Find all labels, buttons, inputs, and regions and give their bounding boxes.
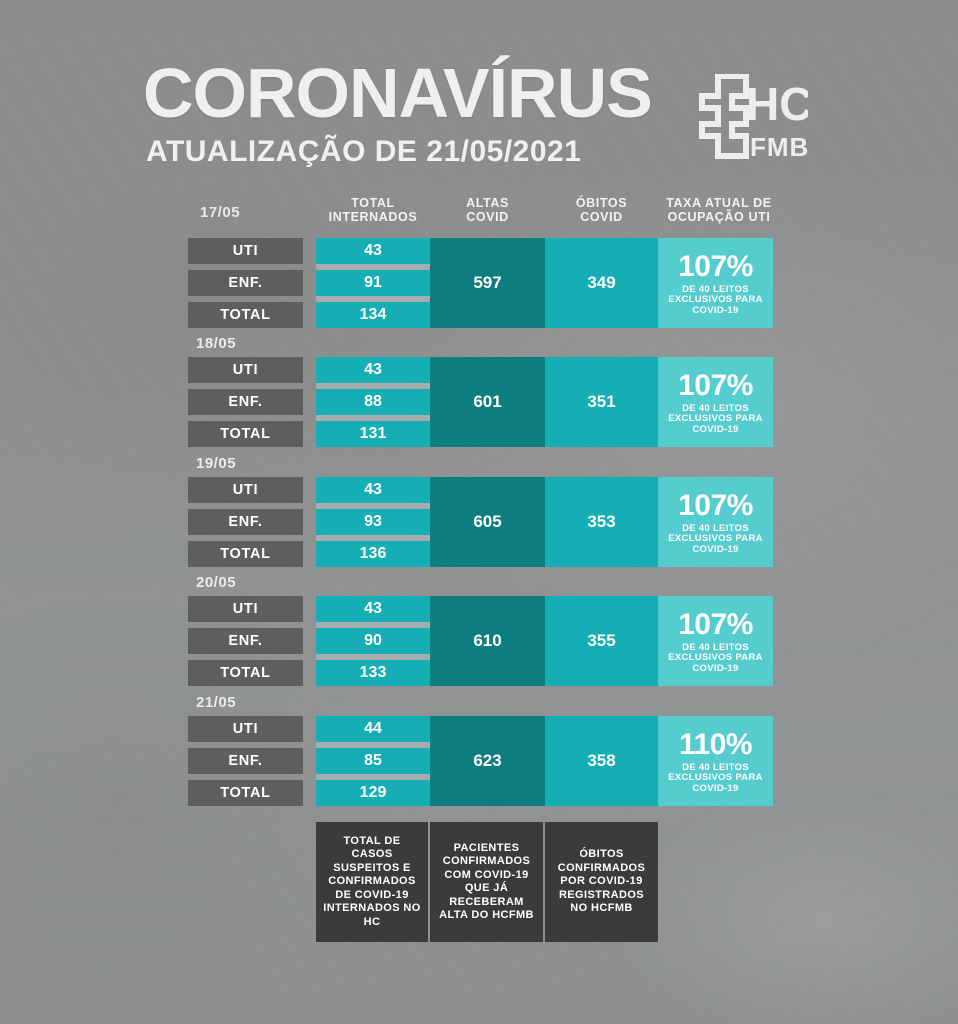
column-header-obitos-line1: ÓBITOS xyxy=(545,196,658,210)
cell-altas: 610 xyxy=(430,596,545,686)
row-label-total: TOTAL xyxy=(188,302,303,328)
taxa-percent: 110% xyxy=(679,730,752,760)
cell-internados-uti: 44 xyxy=(316,716,430,742)
column-header-altas: ALTAS COVID xyxy=(430,196,545,224)
column-header-internados-line1: TOTAL xyxy=(316,196,430,210)
taxa-note: DE 40 LEITOSEXCLUSIVOS PARACOVID-19 xyxy=(668,404,763,436)
cell-obitos: 351 xyxy=(545,357,658,447)
cell-altas: 601 xyxy=(430,357,545,447)
svg-text:FMB: FMB xyxy=(750,132,808,162)
infographic-page: CORONAVÍRUS ATUALIZAÇÃO DE 21/05/2021 HC… xyxy=(0,0,958,1024)
row-label-total: TOTAL xyxy=(188,660,303,686)
row-label-enf: ENF. xyxy=(188,389,303,415)
cell-internados-enf: 93 xyxy=(316,509,430,535)
data-block: 18/05UTIENF.TOTAL4388131601351107%DE 40 … xyxy=(0,357,958,447)
cell-internados-uti: 43 xyxy=(316,477,430,503)
data-block: UTIENF.TOTAL4391134597349107%DE 40 LEITO… xyxy=(0,238,958,328)
cell-internados-enf: 88 xyxy=(316,389,430,415)
cell-group-internados: 4391134 xyxy=(316,238,430,328)
row-label-total: TOTAL xyxy=(188,541,303,567)
row-label-enf: ENF. xyxy=(188,748,303,774)
taxa-note-line3: COVID-19 xyxy=(668,425,763,436)
taxa-note: DE 40 LEITOSEXCLUSIVOS PARACOVID-19 xyxy=(668,285,763,317)
cell-internados-total: 136 xyxy=(316,541,430,567)
row-label-uti: UTI xyxy=(188,716,303,742)
row-label-uti: UTI xyxy=(188,596,303,622)
row-label-enf: ENF. xyxy=(188,628,303,654)
header: CORONAVÍRUS ATUALIZAÇÃO DE 21/05/2021 HC… xyxy=(0,0,958,188)
cell-obitos: 353 xyxy=(545,477,658,567)
legend-box-internados: TOTAL DE CASOS SUSPEITOS E CONFIRMADOS D… xyxy=(316,822,428,942)
cell-obitos: 358 xyxy=(545,716,658,806)
column-header-taxa-line2: OCUPAÇÃO UTI xyxy=(655,210,783,224)
cell-internados-enf: 85 xyxy=(316,748,430,774)
page-subtitle: ATUALIZAÇÃO DE 21/05/2021 xyxy=(146,137,581,167)
cell-altas: 597 xyxy=(430,238,545,328)
row-label-group: UTIENF.TOTAL xyxy=(188,716,303,806)
svg-text:HC: HC xyxy=(746,78,808,130)
footer-legend: TOTAL DE CASOS SUSPEITOS E CONFIRMADOS D… xyxy=(316,822,658,942)
taxa-percent: 107% xyxy=(678,610,753,640)
taxa-percent: 107% xyxy=(678,252,753,282)
row-label-group: UTIENF.TOTAL xyxy=(188,238,303,328)
row-label-uti: UTI xyxy=(188,238,303,264)
cell-internados-total: 131 xyxy=(316,421,430,447)
row-label-uti: UTI xyxy=(188,357,303,383)
header-date-label: 17/05 xyxy=(200,204,240,221)
cell-taxa-ocupacao: 110%DE 40 LEITOSEXCLUSIVOS PARACOVID-19 xyxy=(658,716,773,806)
hcfmb-logo: HC FMB xyxy=(688,74,808,162)
cell-obitos: 355 xyxy=(545,596,658,686)
cell-internados-uti: 43 xyxy=(316,357,430,383)
column-headers: 17/05 TOTAL INTERNADOS ALTAS COVID ÓBITO… xyxy=(0,196,958,230)
block-date: 18/05 xyxy=(196,335,236,352)
cell-internados-total: 129 xyxy=(316,780,430,806)
row-label-group: UTIENF.TOTAL xyxy=(188,477,303,567)
row-label-enf: ENF. xyxy=(188,270,303,296)
block-date: 19/05 xyxy=(196,455,236,472)
cell-taxa-ocupacao: 107%DE 40 LEITOSEXCLUSIVOS PARACOVID-19 xyxy=(658,357,773,447)
column-header-obitos-line2: COVID xyxy=(545,210,658,224)
cell-altas: 623 xyxy=(430,716,545,806)
cell-altas: 605 xyxy=(430,477,545,567)
column-header-altas-line1: ALTAS xyxy=(430,196,545,210)
row-label-total: TOTAL xyxy=(188,421,303,447)
taxa-note: DE 40 LEITOSEXCLUSIVOS PARACOVID-19 xyxy=(668,524,763,556)
data-block: 19/05UTIENF.TOTAL4393136605353107%DE 40 … xyxy=(0,477,958,567)
column-header-internados-line2: INTERNADOS xyxy=(316,210,430,224)
cell-taxa-ocupacao: 107%DE 40 LEITOSEXCLUSIVOS PARACOVID-19 xyxy=(658,477,773,567)
row-label-group: UTIENF.TOTAL xyxy=(188,596,303,686)
column-header-altas-line2: COVID xyxy=(430,210,545,224)
data-block: 21/05UTIENF.TOTAL4485129623358110%DE 40 … xyxy=(0,716,958,806)
cell-internados-total: 134 xyxy=(316,302,430,328)
legend-box-altas: PACIENTES CONFIRMADOS COM COVID-19 QUE J… xyxy=(430,822,543,942)
taxa-note-line3: COVID-19 xyxy=(668,545,763,556)
legend-box-obitos: ÓBITOS CONFIRMADOS POR COVID-19 REGISTRA… xyxy=(545,822,658,942)
cell-taxa-ocupacao: 107%DE 40 LEITOSEXCLUSIVOS PARACOVID-19 xyxy=(658,238,773,328)
cell-group-internados: 4485129 xyxy=(316,716,430,806)
block-date: 20/05 xyxy=(196,574,236,591)
taxa-note: DE 40 LEITOSEXCLUSIVOS PARACOVID-19 xyxy=(668,763,763,795)
taxa-note-line3: COVID-19 xyxy=(668,784,763,795)
column-header-internados: TOTAL INTERNADOS xyxy=(316,196,430,224)
cell-group-internados: 4390133 xyxy=(316,596,430,686)
taxa-note: DE 40 LEITOSEXCLUSIVOS PARACOVID-19 xyxy=(668,643,763,675)
row-label-enf: ENF. xyxy=(188,509,303,535)
cell-taxa-ocupacao: 107%DE 40 LEITOSEXCLUSIVOS PARACOVID-19 xyxy=(658,596,773,686)
taxa-percent: 107% xyxy=(678,371,753,401)
taxa-percent: 107% xyxy=(678,491,753,521)
cell-group-internados: 4393136 xyxy=(316,477,430,567)
cell-internados-total: 133 xyxy=(316,660,430,686)
cell-obitos: 349 xyxy=(545,238,658,328)
taxa-note-line3: COVID-19 xyxy=(668,664,763,675)
hospital-cross-icon: HC FMB xyxy=(688,74,808,162)
column-header-taxa: TAXA ATUAL DE OCUPAÇÃO UTI xyxy=(655,196,783,224)
cell-group-internados: 4388131 xyxy=(316,357,430,447)
row-label-total: TOTAL xyxy=(188,780,303,806)
cell-internados-uti: 43 xyxy=(316,238,430,264)
taxa-note-line3: COVID-19 xyxy=(668,306,763,317)
row-label-group: UTIENF.TOTAL xyxy=(188,357,303,447)
cell-internados-enf: 90 xyxy=(316,628,430,654)
column-header-taxa-line1: TAXA ATUAL DE xyxy=(655,196,783,210)
page-title: CORONAVÍRUS xyxy=(143,58,652,128)
block-date: 21/05 xyxy=(196,694,236,711)
cell-internados-enf: 91 xyxy=(316,270,430,296)
column-header-obitos: ÓBITOS COVID xyxy=(545,196,658,224)
row-label-uti: UTI xyxy=(188,477,303,503)
cell-internados-uti: 43 xyxy=(316,596,430,622)
data-block: 20/05UTIENF.TOTAL4390133610355107%DE 40 … xyxy=(0,596,958,686)
